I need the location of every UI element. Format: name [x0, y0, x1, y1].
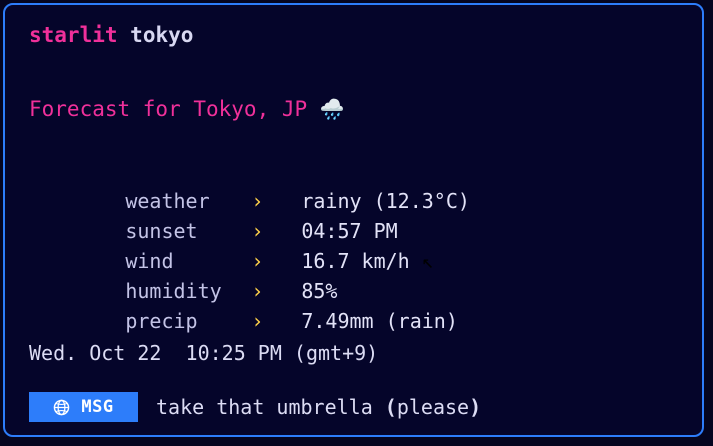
page-title: starlit tokyo [29, 22, 702, 48]
detail-value: 85% [301, 279, 337, 303]
detail-label: wind [125, 246, 251, 276]
msg-badge[interactable]: MSG [29, 392, 138, 422]
chevron-right-icon: › [251, 276, 301, 306]
cloud-with-rain-icon: 🌧️ [320, 97, 345, 121]
message-close-paren: ) [469, 395, 481, 419]
detail-label: weather [125, 186, 251, 216]
app-city-name: tokyo [130, 23, 193, 47]
chevron-right-icon: › [251, 246, 301, 276]
weather-details-list: weather›rainy (12.3°C) sunset›04:57 PM w… [29, 156, 702, 306]
wind-direction-arrow-icon: ↖ [422, 249, 434, 273]
forecast-heading-text: Forecast for Tokyo, JP [29, 97, 307, 121]
detail-value: rainy (12.3°C) [301, 189, 470, 213]
card-content: starlit tokyo Forecast for Tokyo, JP 🌧️ … [5, 5, 702, 422]
chevron-right-icon: › [251, 216, 301, 246]
timestamp: Wed. Oct 22 10:25 PM (gmt+9) [29, 338, 702, 368]
detail-label: sunset [125, 216, 251, 246]
app-brand-name: starlit [29, 23, 118, 47]
detail-label: humidity [125, 276, 251, 306]
message-line: MSG take that umbrella (please) [29, 392, 702, 422]
message-emphasis: please [397, 395, 469, 419]
message-text-plain: take that umbrella [156, 395, 385, 419]
detail-value: 7.49mm (rain) [301, 309, 458, 333]
globe-icon [53, 399, 70, 416]
forecast-heading: Forecast for Tokyo, JP 🌧️ [29, 96, 702, 123]
chevron-right-icon: › [251, 186, 301, 216]
heading-space [307, 97, 320, 121]
detail-value: 04:57 PM [301, 219, 397, 243]
detail-row-weather: weather›rainy (12.3°C) [29, 156, 702, 186]
message-open-paren: ( [385, 395, 397, 419]
chevron-right-icon: › [251, 306, 301, 336]
weather-card: starlit tokyo Forecast for Tokyo, JP 🌧️ … [3, 3, 704, 437]
detail-value: 16.7 km/h [301, 249, 421, 273]
message-text: take that umbrella (please) [156, 392, 481, 422]
msg-badge-label: MSG [81, 399, 113, 416]
title-space [118, 23, 131, 47]
detail-label: precip [125, 306, 251, 336]
